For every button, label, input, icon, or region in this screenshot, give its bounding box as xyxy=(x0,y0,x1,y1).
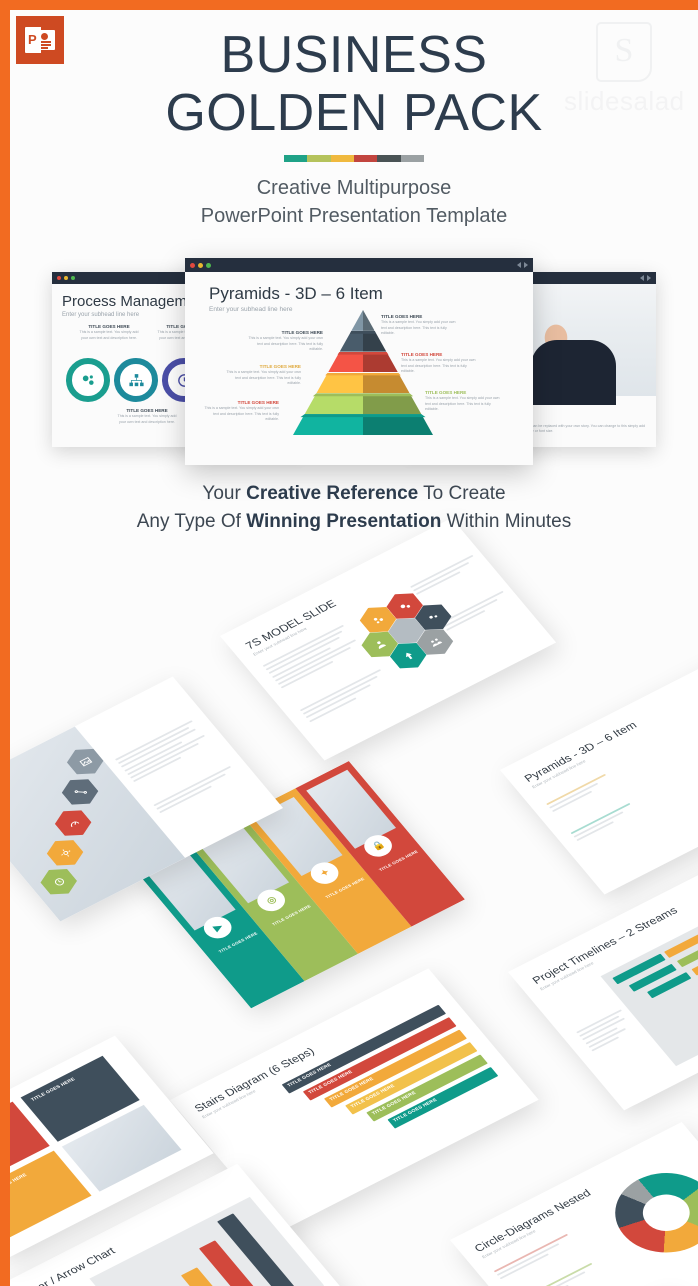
note-title: TITLE GOES HERE xyxy=(116,408,178,413)
note-body: This is a sample text. You simply add yo… xyxy=(381,320,459,337)
gears-icon[interactable] xyxy=(66,358,110,402)
pyramid-level[interactable] xyxy=(305,393,422,414)
note-title: TITLE GOES HERE xyxy=(223,364,301,369)
accent-segment-1 xyxy=(307,155,330,162)
accent-color-bar xyxy=(284,155,424,162)
note-title: TITLE GOES HERE xyxy=(245,330,323,335)
donut-chart xyxy=(596,1158,698,1268)
tagline-2b: Winning Presentation xyxy=(246,511,441,532)
slide-mosaic: 7S MODEL SLIDE Enter your subhead line h… xyxy=(10,540,698,1286)
accent-segment-2 xyxy=(331,155,354,162)
note-body: This is a sample text. You simply add yo… xyxy=(201,406,279,423)
pyramid-level[interactable] xyxy=(351,310,374,331)
note-title: TITLE GOES HERE xyxy=(401,352,479,357)
page-frame: P S slidesalad BUSINESS GOLDEN PACK Crea… xyxy=(0,0,698,1286)
accent-segment-4 xyxy=(377,155,400,162)
text-lines xyxy=(410,555,481,598)
ppt-p-letter: P xyxy=(25,27,41,53)
mosaic-slide-pyramids[interactable]: Pyramids - 3D – 6 Item Enter your subhea… xyxy=(500,657,698,895)
page-subtitle: Creative Multipurpose PowerPoint Present… xyxy=(10,174,698,231)
note-title: TITLE GOES HERE xyxy=(78,324,140,329)
accent-segment-5 xyxy=(401,155,424,162)
note-body: This is a sample text. You simply add yo… xyxy=(78,330,140,341)
note-body: This is a sample text. You simply add yo… xyxy=(245,336,323,353)
window-titlebar xyxy=(185,258,533,272)
tagline-line-2: Any Type Of Winning Presentation Within … xyxy=(10,508,698,536)
accent-segment-3 xyxy=(354,155,377,162)
window-nav-arrows[interactable] xyxy=(640,275,651,281)
hierarchy-icon[interactable] xyxy=(114,358,158,402)
pyramid-level[interactable] xyxy=(328,352,398,373)
text-lines xyxy=(576,1009,639,1053)
note-title: TITLE GOES HERE xyxy=(425,390,503,395)
pyramid-note: TITLE GOES HERE This is a sample text. Y… xyxy=(245,330,323,353)
text-lines xyxy=(300,669,392,724)
text-lines xyxy=(440,591,511,634)
poster-canvas: P S slidesalad BUSINESS GOLDEN PACK Crea… xyxy=(10,10,698,1286)
window-nav-arrows[interactable] xyxy=(517,262,528,268)
tagline: Your Creative Reference To Create Any Ty… xyxy=(10,480,698,535)
pyramid-note: TITLE GOES HERE This is a sample text. Y… xyxy=(401,352,479,375)
note-body: This is a sample text. You simply add yo… xyxy=(223,370,301,387)
title-line-2: GOLDEN PACK xyxy=(10,84,698,142)
note-title: TITLE GOES HERE xyxy=(381,314,459,319)
mosaic-slide-circle-diagrams[interactable]: Circle-Diagrams Nested Enter your subhea… xyxy=(450,1122,698,1286)
note-body: This is a sample text. You simply add yo… xyxy=(401,358,479,375)
tagline-1b: Creative Reference xyxy=(246,483,418,504)
pyramid-note: TITLE GOES HERE This is a sample text. Y… xyxy=(201,400,279,423)
text-lines xyxy=(571,803,639,844)
tagline-line-1: Your Creative Reference To Create xyxy=(10,480,698,508)
pyramid-note: TITLE GOES HERE This is a sample text. Y… xyxy=(425,390,503,413)
page-title: BUSINESS GOLDEN PACK xyxy=(10,26,698,142)
preview-window-pyramid[interactable]: Pyramids - 3D – 6 Item Enter your subhea… xyxy=(185,258,533,465)
subtitle-line-1: Creative Multipurpose xyxy=(10,174,698,202)
tagline-1a: Your xyxy=(202,483,246,504)
pyramid-level[interactable] xyxy=(340,331,387,352)
text-lines xyxy=(546,774,614,815)
tagline-2c: Within Minutes xyxy=(441,511,571,532)
preview-windows: Process Management Enter your subhead li… xyxy=(10,258,698,473)
slide-title: Pyramids - 3D – 6 Item xyxy=(209,284,533,304)
text-lines xyxy=(153,766,239,816)
subtitle-line-2: PowerPoint Presentation Template xyxy=(10,202,698,230)
pyramid-level[interactable] xyxy=(316,373,409,394)
title-line-1: BUSINESS xyxy=(221,26,488,84)
traffic-light-dots xyxy=(57,276,75,280)
mosaic-slide-7s-model[interactable]: 7S MODEL SLIDE Enter your subhead line h… xyxy=(220,518,556,761)
accent-segment-0 xyxy=(284,155,307,162)
pyramid-note: TITLE GOES HERE This is a sample text. Y… xyxy=(223,364,301,387)
text-lines xyxy=(115,720,213,784)
note-title: TITLE GOES HERE xyxy=(201,400,279,405)
pyramid-level[interactable] xyxy=(293,414,433,435)
tagline-1c: To Create xyxy=(418,483,505,504)
traffic-light-dots xyxy=(190,263,211,268)
pyramid-note: TITLE GOES HERE This is a sample text. Y… xyxy=(381,314,459,337)
tagline-2a: Any Type Of xyxy=(137,511,246,532)
powerpoint-icon: P xyxy=(16,16,64,64)
note-body: This is a sample text. You simply add yo… xyxy=(116,414,178,425)
note-body: This is a sample text. You simply add yo… xyxy=(425,396,503,413)
